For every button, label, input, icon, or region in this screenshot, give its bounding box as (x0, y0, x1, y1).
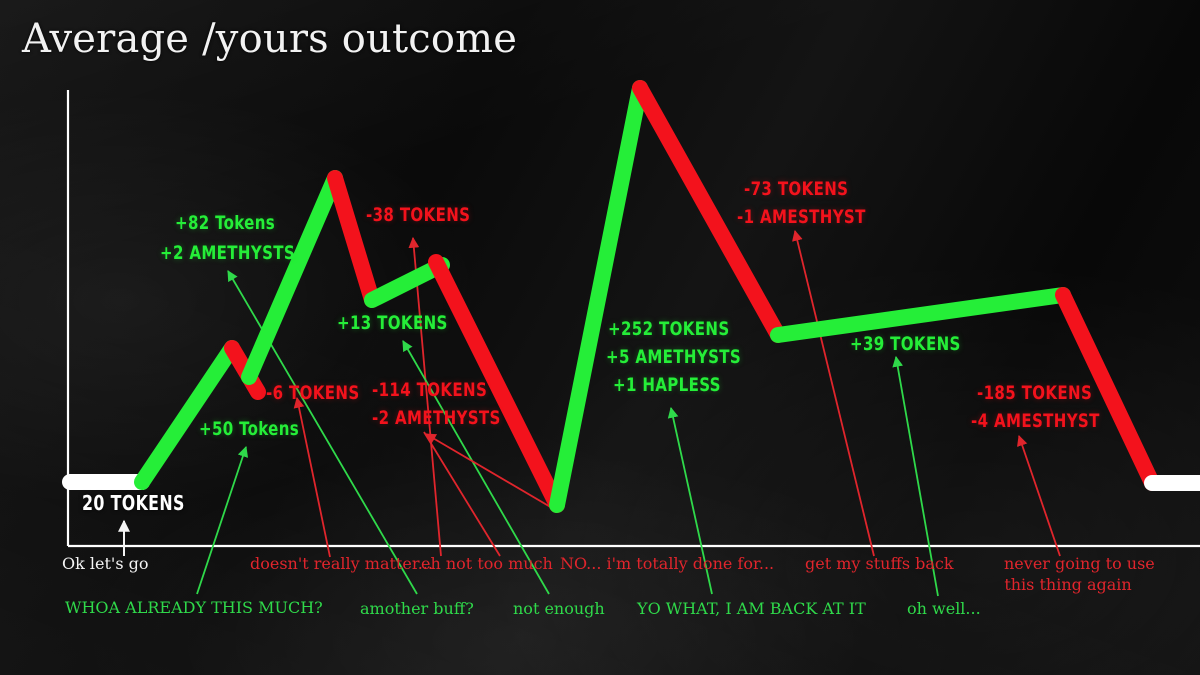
annotation-gain-252-line2: +5 AMETHYSTS (606, 345, 741, 370)
segment-gain-252 (557, 88, 640, 505)
caption-oh-well: oh well... (907, 598, 981, 619)
annotation-loss-185-line2: -4 AMESTHYST (971, 409, 1100, 434)
segment-gain-39 (778, 295, 1063, 335)
annotation-loss-38: -38 TOKENS (366, 203, 470, 228)
segment-loss-38 (335, 178, 372, 300)
annotation-loss-6: -6 TOKENS (266, 381, 360, 406)
segment-gain-82 (249, 178, 335, 377)
baseline-value-label: 20 TOKENS (82, 491, 185, 516)
caption-doesnt-really-matter: doesn't really matter... (250, 553, 433, 574)
caption-amother-buff: amother buff? (360, 598, 474, 619)
annotation-gain-50: +50 Tokens (199, 417, 299, 442)
caption-yo-what-i-am-back-at-it: YO WHAT, I AM BACK AT IT (637, 598, 866, 619)
annotation-loss-114-line2: -2 AMETHYSTS (372, 406, 501, 431)
caption-get-my-stuffs-back: get my stuffs back (805, 553, 954, 574)
annotation-loss-114-line1: -114 TOKENS (372, 378, 487, 403)
caption-never-going-to-use-line1: never going to use (1004, 553, 1132, 574)
annotation-gain-13: +13 TOKENS (337, 311, 448, 336)
annotation-gain-252-line3: +1 HAPLESS (613, 373, 721, 398)
annotation-gain-82-line1: +82 Tokens (175, 211, 275, 236)
caption-eh-not-too-much: eh not too much (421, 553, 553, 574)
annotation-gain-82-line2: +2 AMETHYSTS (160, 241, 295, 266)
annotation-loss-73-line1: -73 TOKENS (744, 177, 848, 202)
caption-ok-lets-go: Ok let's go (62, 553, 148, 574)
caption-not-enough: not enough (513, 598, 605, 619)
annotation-gain-39: +39 TOKENS (850, 332, 961, 357)
caption-no-im-totally-done-for: NO... i'm totally done for... (560, 553, 774, 574)
chart-canvas: Average /yours outcome (0, 0, 1200, 675)
caption-never-going-to-use-line2: this thing again (1004, 574, 1132, 595)
annotation-loss-73-line2: -1 AMESTHYST (737, 205, 866, 230)
annotation-gain-252-line1: +252 TOKENS (608, 317, 730, 342)
annotation-loss-185-line1: -185 TOKENS (977, 381, 1092, 406)
segment-gain-50 (142, 348, 232, 482)
caption-whoa-already: WHOA ALREADY THIS MUCH? (65, 597, 323, 618)
